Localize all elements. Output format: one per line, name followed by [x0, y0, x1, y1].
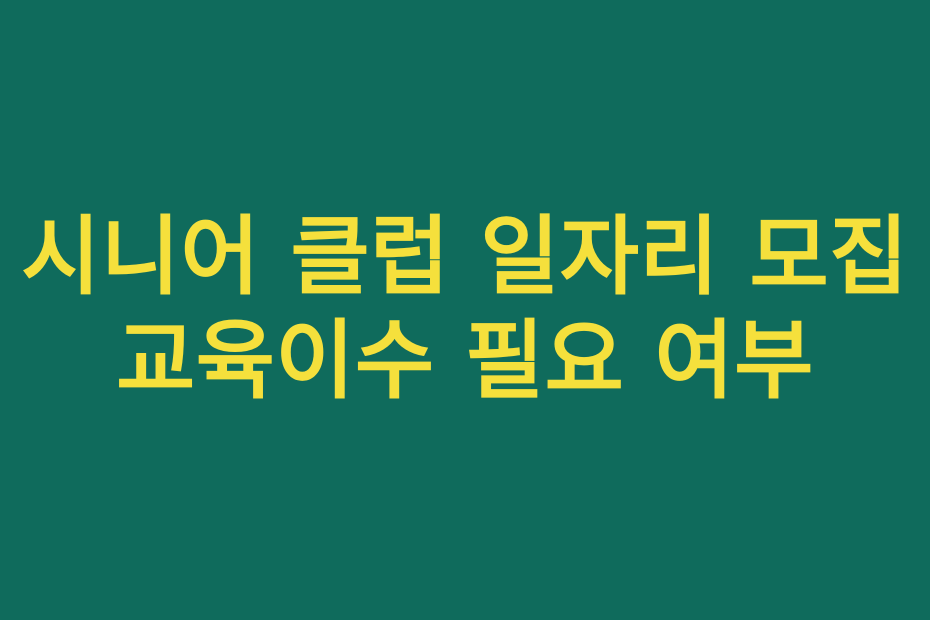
headline-line-2: 교육이수 필요 여부: [116, 309, 814, 413]
title-banner: 시니어 클럽 일자리 모집 교육이수 필요 여부: [0, 0, 930, 620]
headline-line-1: 시니어 클럽 일자리 모집: [21, 205, 909, 309]
headline-block: 시니어 클럽 일자리 모집 교육이수 필요 여부: [0, 205, 930, 413]
